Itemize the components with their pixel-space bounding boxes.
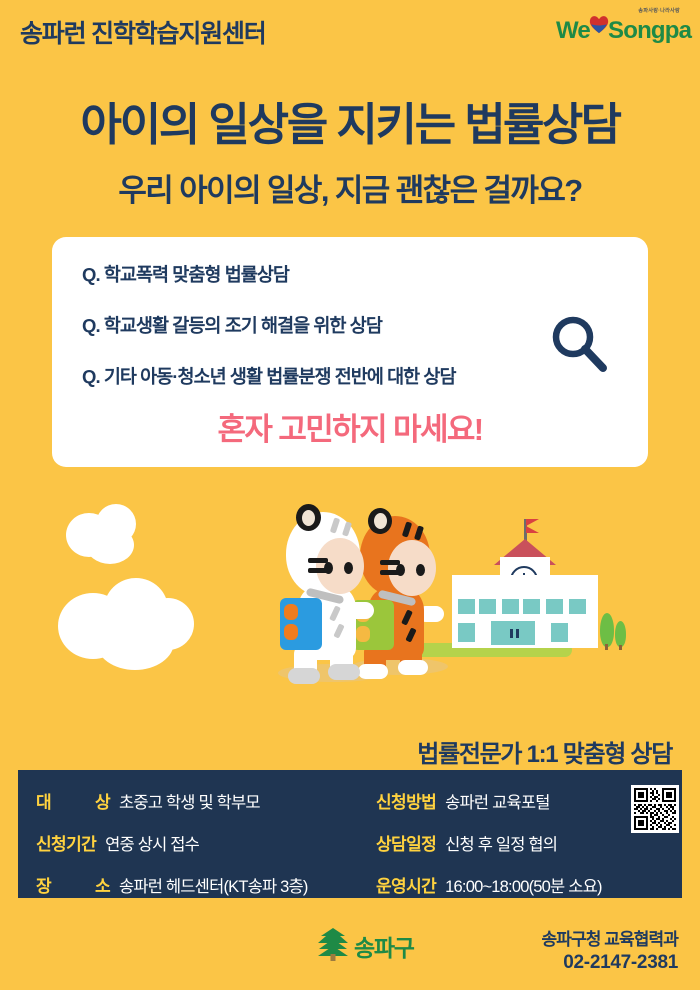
school-window <box>546 599 563 614</box>
info-value: 연중 상시 접수 <box>105 831 199 855</box>
mascot-nose <box>380 560 400 565</box>
we-songpa-logo: 송파사랑·나라사랑 We Songpa <box>556 6 684 46</box>
info-value: 16:00~18:00(50분 소요) <box>445 873 601 897</box>
mascot-nose <box>308 558 328 563</box>
logo-tagline: 송파사랑·나라사랑 <box>638 7 680 14</box>
tree-icon <box>600 613 614 647</box>
info-value: 초중고 학생 및 학부모 <box>119 789 260 813</box>
logo-songpa-text: Songpa <box>608 17 691 45</box>
info-box: 대상 초중고 학생 및 학부모 신청기간 연중 상시 접수 장소 송파런 헤드센… <box>18 770 682 898</box>
mascot-foot <box>288 668 320 684</box>
info-value: 송파런 교육포털 <box>445 789 549 813</box>
backpack-pocket <box>284 624 298 640</box>
info-label: 대상 <box>36 788 110 813</box>
page-title: 아이의 일상을 지키는 법률상담 <box>0 88 700 153</box>
school-window <box>479 599 496 614</box>
poster-root: 송파런 진학학습지원센터 송파사랑·나라사랑 We Songpa 아이의 일상을… <box>0 0 700 990</box>
info-row-target: 대상 초중고 학생 및 학부모 <box>36 788 376 813</box>
page-subtitle: 우리 아이의 일상, 지금 괜찮은 걸까요? <box>0 165 700 210</box>
mascot-ear-inner <box>374 513 387 529</box>
heart-icon <box>588 14 610 34</box>
info-value: 송파런 헤드센터(KT송파 3층) <box>119 873 308 897</box>
backpack-pocket <box>356 626 370 642</box>
info-label-part: 대 <box>36 788 51 813</box>
title-main-accent: 법률상담 <box>464 99 619 150</box>
door-handle <box>510 629 513 638</box>
info-label: 운영시간 <box>376 872 436 897</box>
tree-icon <box>615 621 626 647</box>
school-window <box>569 599 586 614</box>
info-label-part: 소 <box>95 872 110 897</box>
door-handle <box>516 629 519 638</box>
songpa-gu-logo: 송파구 <box>310 925 430 965</box>
info-row-hours: 운영시간 16:00~18:00(50분 소요) <box>376 872 626 897</box>
info-column-left: 대상 초중고 학생 및 학부모 신청기간 연중 상시 접수 장소 송파런 헤드센… <box>36 788 376 897</box>
title-main-prefix: 아이의 일상을 지키는 <box>81 99 465 150</box>
info-row-location: 장소 송파런 헤드센터(KT송파 3층) <box>36 872 376 897</box>
info-label: 신청기간 <box>36 830 96 855</box>
tree-trunk <box>605 644 608 650</box>
info-label-part: 상 <box>95 788 110 813</box>
info-row-apply-method: 신청방법 송파런 교육포털 <box>376 788 626 813</box>
info-row-period: 신청기간 연중 상시 접수 <box>36 830 376 855</box>
school-door <box>491 621 535 645</box>
banner-line: 법률전문가 1:1 맞춤형 상담 <box>417 734 672 769</box>
info-value: 신청 후 일정 협의 <box>445 831 557 855</box>
info-label: 신청방법 <box>376 788 436 813</box>
school-window <box>523 599 540 614</box>
footer-phone: 02-2147-2381 <box>542 952 678 974</box>
mascot-nose <box>308 568 328 573</box>
logo-we-text: We <box>556 17 590 45</box>
info-row-schedule: 상담일정 신청 후 일정 협의 <box>376 830 626 855</box>
mascot-group <box>268 502 478 692</box>
info-label: 상담일정 <box>376 830 436 855</box>
songpa-tree-logo <box>314 927 352 961</box>
list-item: Q. 기타 아동·청소년 생활 법률분쟁 전반에 대한 상담 <box>82 363 456 389</box>
magnifying-glass-icon <box>548 313 610 375</box>
info-column-right: 신청방법 송파런 교육포털 상담일정 신청 후 일정 협의 운영시간 16:00… <box>376 788 626 897</box>
list-item: Q. 학교폭력 맞춤형 법률상담 <box>82 261 456 287</box>
cloud-icon <box>142 598 194 650</box>
songpa-gu-text: 송파구 <box>354 929 414 963</box>
mascot-ear-inner <box>302 510 315 526</box>
question-list: Q. 학교폭력 맞춤형 법률상담 Q. 학교생활 갈등의 조기 해결을 위한 상… <box>82 261 456 389</box>
footer-department: 송파구청 교육협력과 <box>542 925 678 950</box>
mascot-eye <box>344 562 353 574</box>
mascot-eye <box>416 564 425 576</box>
mascot-foot <box>358 664 388 679</box>
flag-icon <box>526 519 539 533</box>
tree-trunk <box>619 645 622 650</box>
qr-code[interactable] <box>631 785 679 833</box>
footer-contact: 송파구청 교육협력과 02-2147-2381 <box>542 925 678 974</box>
question-card: Q. 학교폭력 맞춤형 법률상담 Q. 학교생활 갈등의 조기 해결을 위한 상… <box>52 237 648 467</box>
mascot-foot <box>328 664 360 680</box>
school-window <box>551 623 568 642</box>
info-label-part: 장 <box>36 872 51 897</box>
card-slogan: 혼자 고민하지 마세요! <box>52 404 648 449</box>
mascot-foot <box>398 660 428 675</box>
center-name: 송파런 진학학습지원센터 <box>20 14 266 50</box>
illustration <box>0 470 700 750</box>
list-item: Q. 학교생활 갈등의 조기 해결을 위한 상담 <box>82 312 456 338</box>
backpack-pocket <box>284 604 298 620</box>
school-window <box>502 599 519 614</box>
mascot-nose <box>380 570 400 575</box>
info-label: 장소 <box>36 872 110 897</box>
cloud-icon <box>86 526 134 564</box>
